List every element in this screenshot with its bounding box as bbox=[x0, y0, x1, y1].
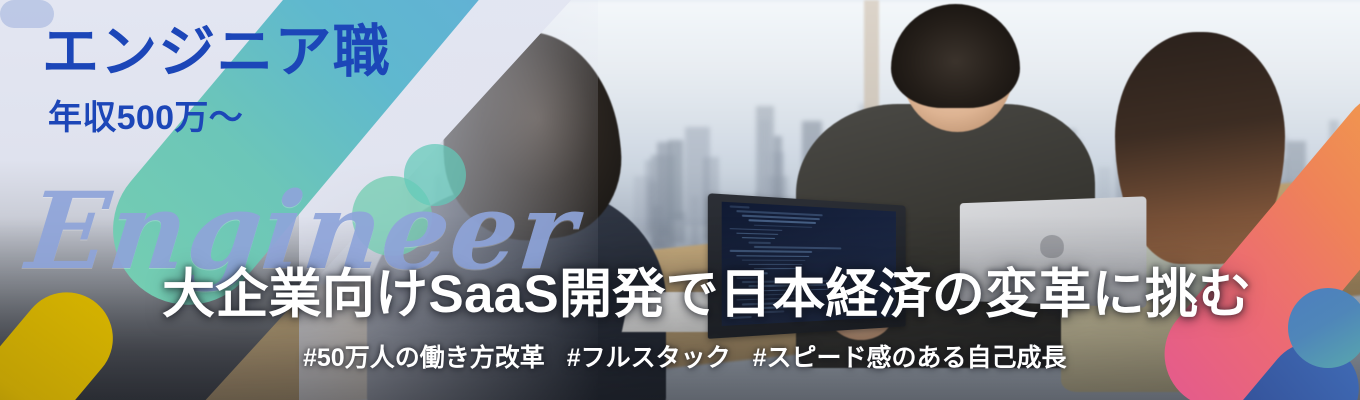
decorative-circle-blue bbox=[1288, 288, 1360, 368]
salary-subtitle: 年収500万〜 bbox=[48, 101, 243, 135]
job-category-kicker: エンジニア職 bbox=[42, 24, 391, 81]
recruitment-banner: エンジニア職 年収500万〜 Engineer 大企業向けSaaS開発で日本経済… bbox=[0, 0, 1360, 400]
hashtag-item: #50万人の働き方改革 bbox=[303, 344, 545, 372]
hashtag-list: #50万人の働き方改革#フルスタック#スピード感のある自己成長 bbox=[303, 346, 1067, 371]
hashtag-item: #スピード感のある自己成長 bbox=[753, 344, 1067, 372]
hashtag-item: #フルスタック bbox=[567, 344, 731, 372]
main-headline: 大企業向けSaaS開発で日本経済の変革に挑む bbox=[162, 268, 1251, 321]
